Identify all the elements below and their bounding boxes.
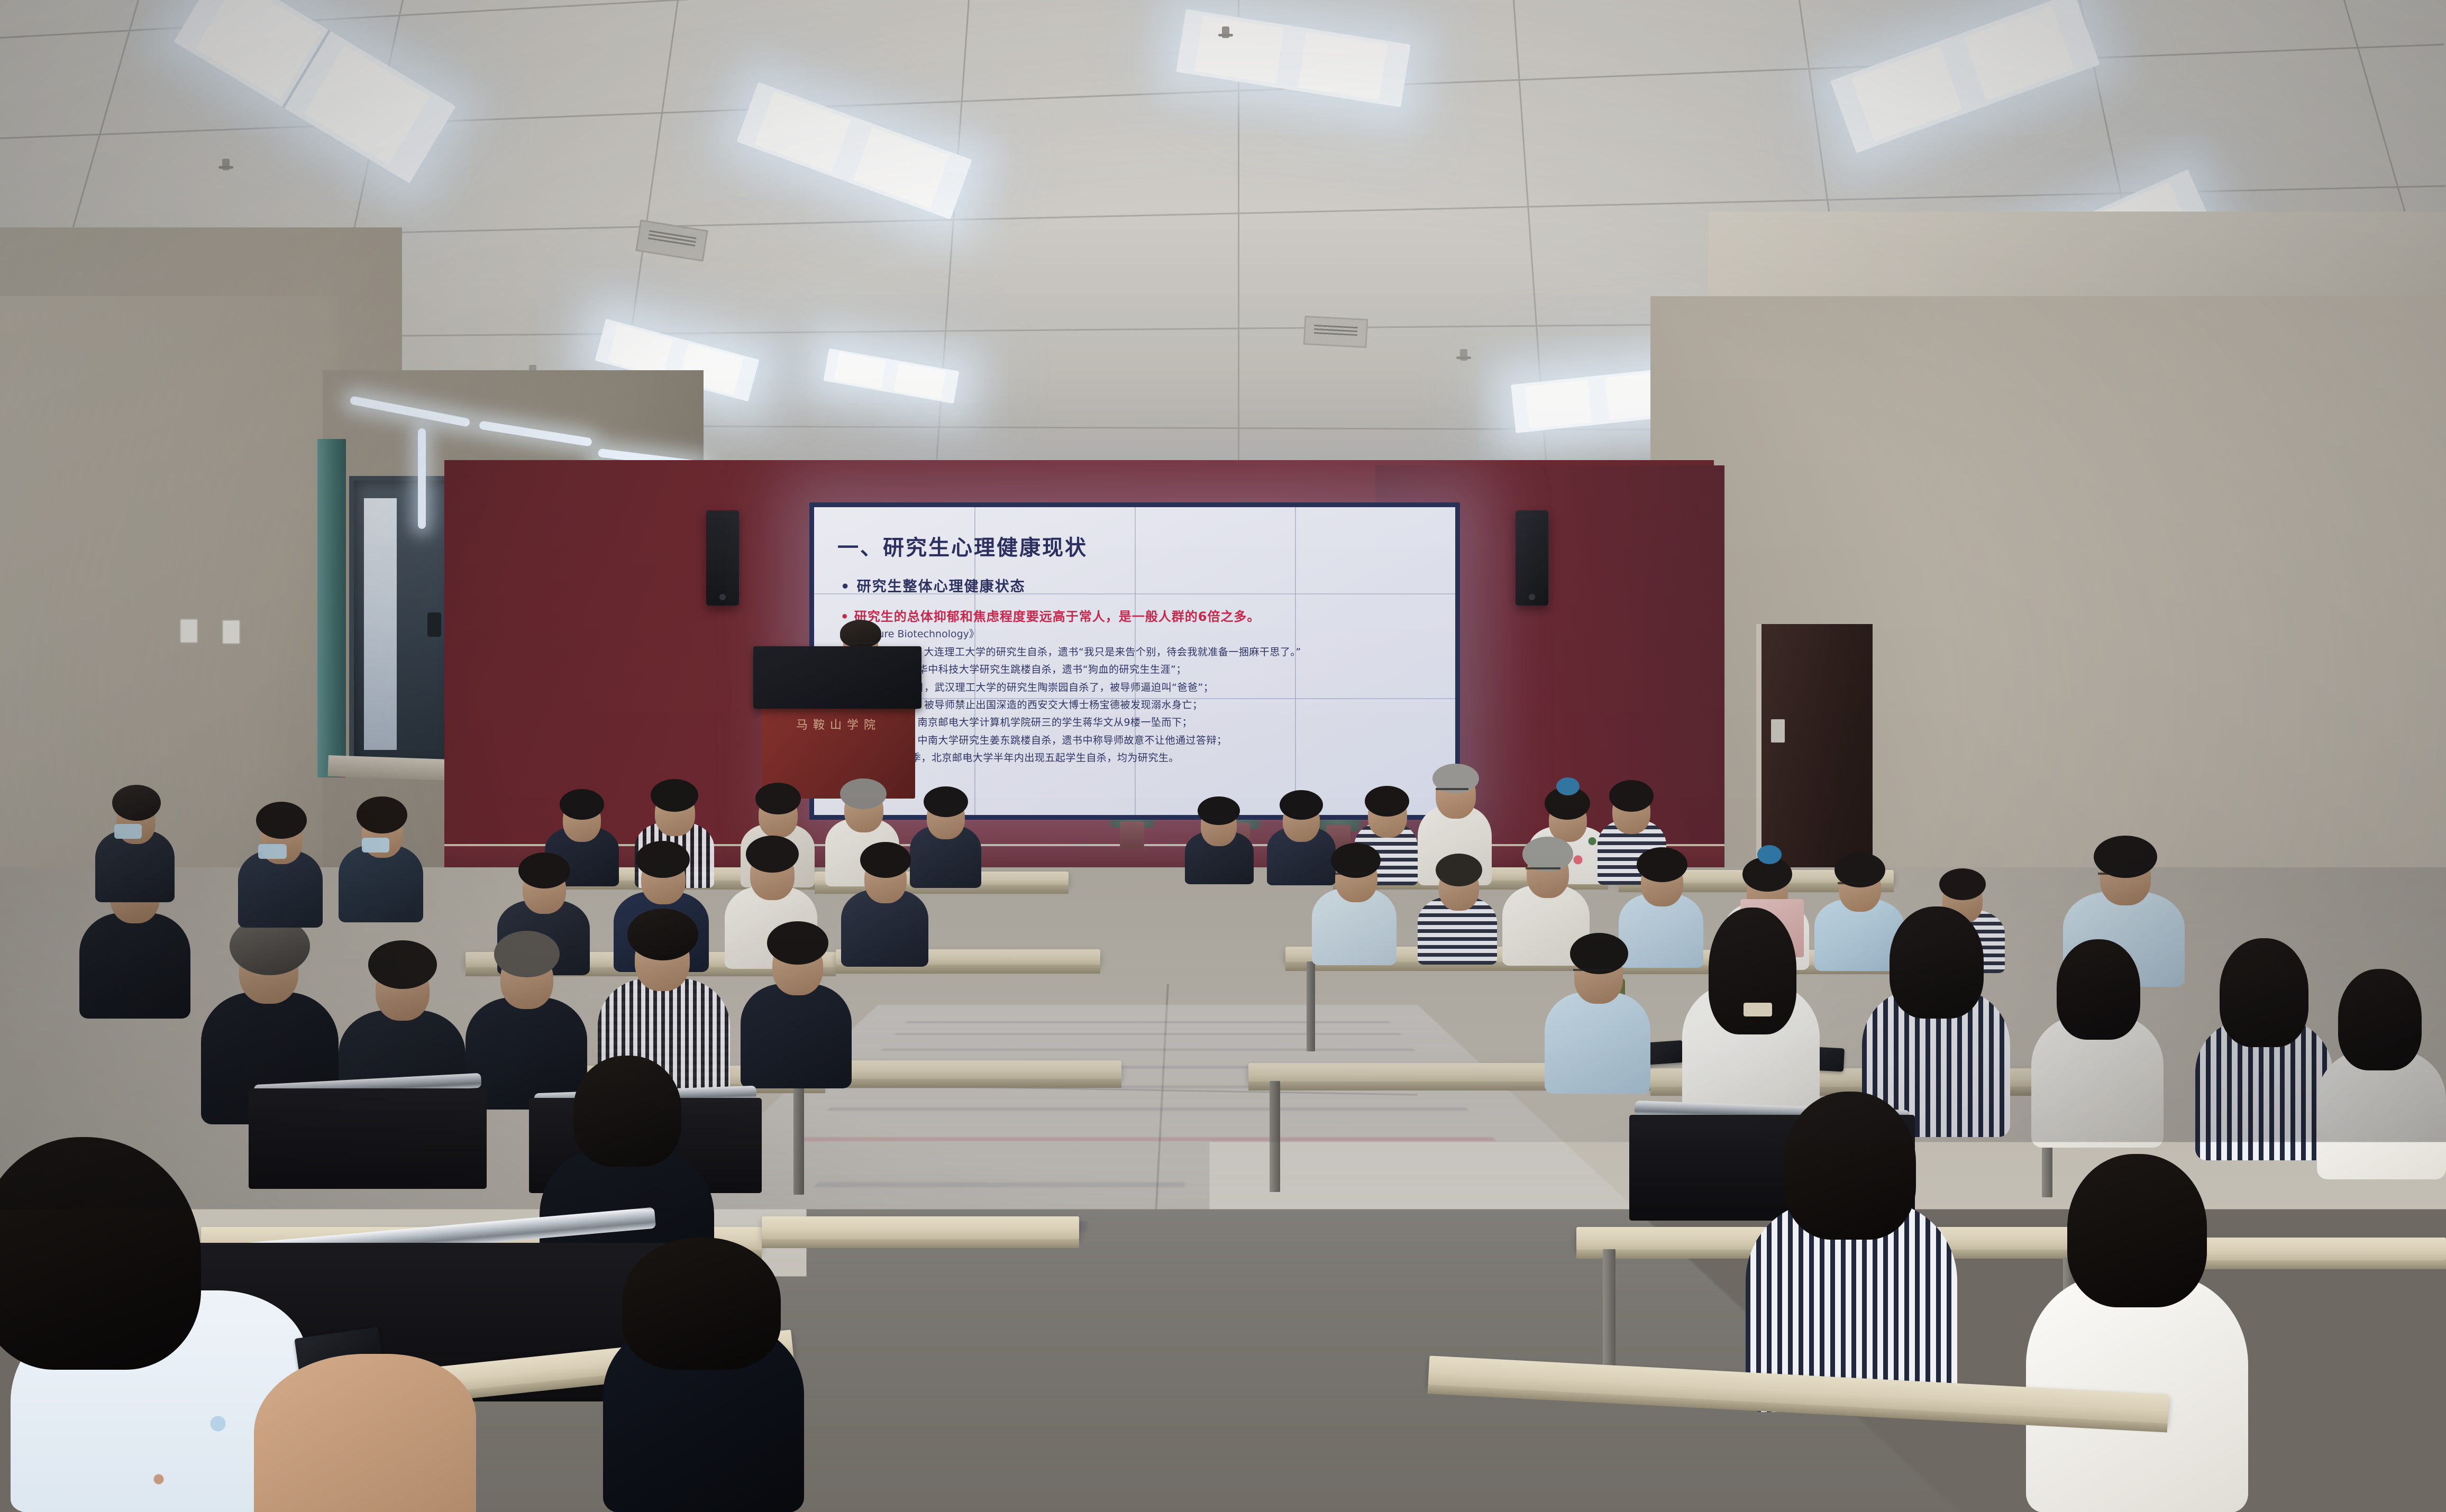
audience-person [841, 830, 928, 965]
slide-list-item: 2017年12月，被导师禁止出国深造的西安交大博士杨宝德被发现溺水身亡； [853, 699, 1443, 711]
slide-list-item: 2016年1月，南京邮电大学计算机学院研三的学生蒋华文从9楼一坠而下； [853, 716, 1443, 729]
slide-list-item: 2015年5月，中南大学研究生姜东跳楼自杀，遗书中称导师故意不让他通过答辩； [853, 734, 1443, 747]
wall-switch[interactable] [180, 619, 198, 643]
wall-light [418, 428, 426, 529]
audience-person [238, 793, 323, 925]
slide-list-item: 2015年毕业季，北京邮电大学半年内出现五起学生自杀，均为研究生。 [853, 752, 1443, 764]
sprinkler-head [1222, 26, 1229, 38]
presenter-monitor [753, 646, 921, 709]
audience-person [2031, 931, 2164, 1142]
slide-title: 一、研究生心理健康现状 [837, 530, 1443, 561]
audience-person [1746, 1084, 1957, 1412]
slide-list-item: 2018年4月1日，武汉理工大学的研究生陶崇园自杀了，被导师逼迫叫“爸爸”； [853, 681, 1443, 694]
wall-speaker [1516, 510, 1548, 606]
audience-person-foreground [603, 1259, 804, 1512]
slide-list-item: 2019年9月，华中科技大学研究生跳楼自杀，遗书“狗血的研究生生涯”； [844, 663, 1443, 676]
hair-bow [1744, 1003, 1772, 1016]
desk [762, 1216, 1079, 1240]
audience-person [1545, 920, 1650, 1089]
audience-person [1418, 841, 1497, 963]
window [349, 476, 460, 772]
sprinkler-head [222, 159, 230, 170]
audience-person [1312, 830, 1397, 963]
slide-source: 《Nature Biotechnology》 [850, 626, 1443, 640]
audience-person [339, 788, 423, 920]
wall-speaker [706, 510, 739, 606]
slide-bullet-main: 研究生整体心理健康状态 [841, 575, 1443, 595]
window-blind[interactable] [317, 439, 346, 777]
audience-person [741, 910, 852, 1084]
lecture-hall-photo: 一、研究生心理健康现状 研究生整体心理健康状态 研究生的总体抑郁和焦虑程度要远高… [0, 0, 2446, 1512]
audience-person [1185, 783, 1254, 883]
ceiling-vent [1303, 316, 1368, 348]
slide-list-item: 2020.10.13，大连理工大学的研究生自杀，遗书“我只是来告个别，待会我就准… [844, 646, 1443, 658]
chair [249, 1088, 487, 1189]
lectern-label: 马鞍山学院 [762, 716, 915, 732]
forearm [254, 1354, 476, 1512]
sprinkler-head [1460, 349, 1467, 361]
audience-person [2317, 963, 2446, 1174]
desk [825, 1060, 1121, 1079]
slide-bullet-red: 研究生的总体抑郁和焦虑程度要远高于常人，是一般人群的6倍之多。 [841, 606, 1443, 625]
audience-person [2195, 931, 2333, 1153]
wall-switch[interactable] [222, 620, 240, 644]
audience-person [95, 777, 175, 899]
